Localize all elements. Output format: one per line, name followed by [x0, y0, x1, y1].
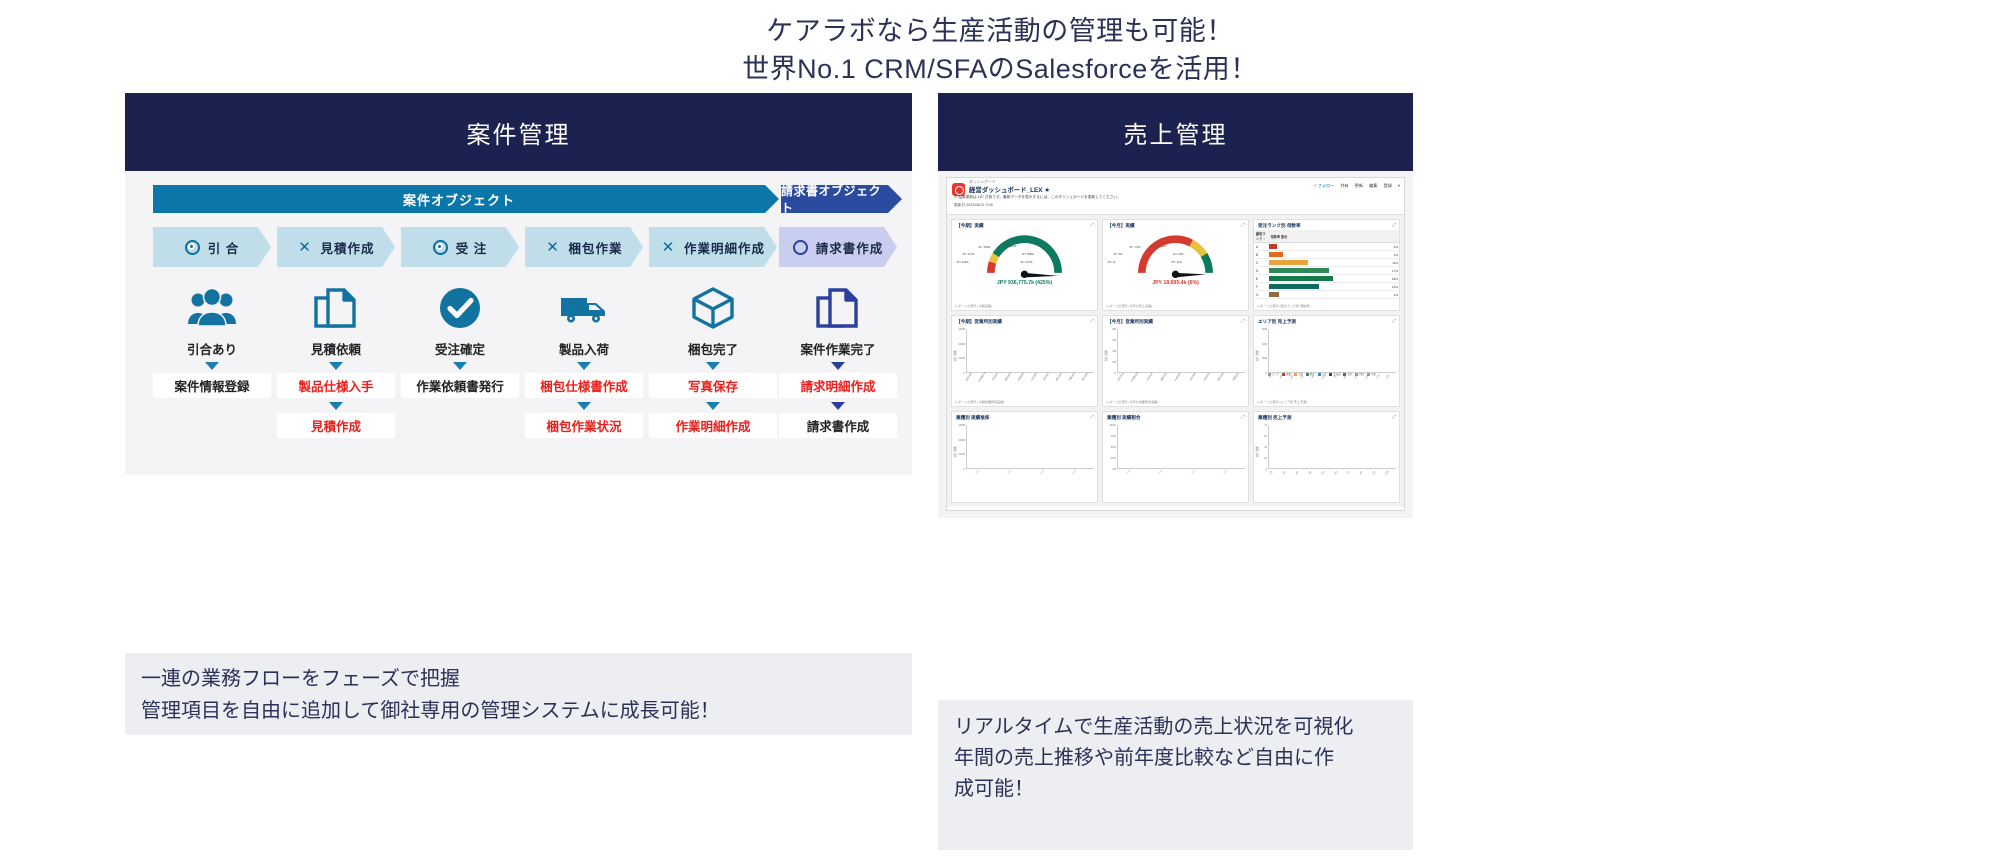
- dashboard-actions[interactable]: + フォロー共有更新編集登録▾: [1314, 183, 1400, 189]
- rank-table: 顧客ランク ↑母数率 割合 A 2% B 4% C 11% D 17% E 18…: [1254, 230, 1399, 299]
- down-arrow-icon: [706, 362, 720, 370]
- legend-item: 中部: [1294, 372, 1303, 376]
- bars: [966, 329, 1094, 373]
- bars: [1268, 425, 1396, 469]
- column-caption: 受注確定: [401, 339, 519, 358]
- x-labels: 2020202120222023: [1117, 469, 1245, 481]
- y-tick: 4k: [1264, 446, 1267, 449]
- card-title: 業種別 売上予測: [1254, 412, 1399, 422]
- x-tick: 京都支店: [1230, 370, 1247, 388]
- caption-right-line-3: 成可能！: [954, 774, 1413, 805]
- legend-item: 九州: [1318, 372, 1327, 376]
- y-tick: 200M: [959, 343, 966, 346]
- y-tick: 4M: [1112, 350, 1116, 353]
- process-column-1: 引合あり案件情報登録: [153, 279, 271, 398]
- card-footer-link[interactable]: レポートの表示 (エリア別 売上予測): [1257, 399, 1307, 404]
- down-arrow-icon: [577, 402, 591, 410]
- y-axis: 300M200M100M0: [954, 328, 965, 372]
- process-column-4: 製品入荷梱包仕様書作成梱包作業状況: [525, 279, 643, 438]
- y-tick: 6M: [1112, 339, 1116, 342]
- case-management-panel: 案件管理 案件オブジェクト 請求書オブジェクト 引 合✕見積作成受 注✕梱包作業…: [125, 93, 912, 475]
- sales-management-panel: 売上管理 ダッシュボード 経営ダッシュボード_LEX ★ ⚠ 結果更新は 187…: [938, 93, 1413, 518]
- case-management-body: 案件オブジェクト 請求書オブジェクト 引 合✕見積作成受 注✕梱包作業✕作業明細…: [125, 171, 912, 475]
- sales-management-title: 売上管理: [938, 93, 1413, 171]
- documents-icon: [277, 279, 395, 337]
- gauge-tick: JPY 627kk: [962, 253, 974, 256]
- y-tick: 6k: [1264, 435, 1267, 438]
- phase-label: 作業明細作成: [684, 238, 765, 257]
- rank-label: A: [1254, 243, 1269, 251]
- dashboard-card-4[interactable]: 【今期】営業所別実績 ⤢ 合計 金額 300M200M100M0 東京本社名古屋…: [951, 315, 1098, 407]
- legend: エリア関東中部関西九州北海道東北四国中国: [1268, 372, 1376, 376]
- step-box: 製品仕様入手: [277, 373, 395, 398]
- x-labels: 2020202120222023: [966, 469, 1094, 481]
- step-box: 案件情報登録: [153, 373, 271, 398]
- rank-pct: 4%: [1373, 251, 1399, 259]
- column-caption: 引合あり: [153, 339, 271, 358]
- process-column-5: 梱包完了写真保存作業明細作成: [649, 279, 777, 438]
- step-box: 梱包作業状況: [525, 413, 643, 438]
- rank-label: E: [1254, 275, 1269, 283]
- process-column-2: 見積依頼製品仕様入手見積作成: [277, 279, 395, 438]
- step-box: 梱包仕様書作成: [525, 373, 643, 398]
- phase-label: 引 合: [208, 238, 239, 257]
- card-title: 【今月】実績: [1103, 220, 1248, 230]
- chart-area: 合計 金額 60M40M20M0 1月2月3月4月5月6月7月8月9月10月11…: [1254, 326, 1399, 386]
- expand-icon[interactable]: ⤢: [1090, 414, 1094, 419]
- y-tick: 50%: [1111, 446, 1116, 449]
- y-tick: 25%: [1111, 457, 1116, 460]
- rank-label: D: [1254, 267, 1269, 275]
- rank-bar-cell: [1269, 251, 1373, 259]
- dashboard-card-6[interactable]: エリア別 売上予測 ⤢ 合計 金額 60M40M20M0 1月2月3月4月5月6…: [1253, 315, 1400, 407]
- card-footer-link[interactable]: レポートの表示 (受注ランク別 母数率): [1257, 303, 1310, 308]
- rank-label: B: [1254, 251, 1269, 259]
- y-tick: 0: [1115, 372, 1116, 375]
- bars: [1268, 329, 1396, 373]
- dashboard-warning: ⚠ 結果更新は 187 日前です。最新データを表示するには、このダッシュボードを…: [954, 195, 1121, 200]
- rank-pct: 18%: [1373, 275, 1399, 283]
- rank-pct: 2%: [1373, 291, 1399, 299]
- card-title: 業種別 実績割合: [1103, 412, 1248, 422]
- caption-left-line-1: 一連の業務フローをフェーズで把握: [141, 663, 912, 695]
- y-tick: 7k: [1264, 424, 1267, 427]
- y-tick: 8M: [1112, 328, 1116, 331]
- favorite-star-icon[interactable]: ★: [1044, 187, 1050, 194]
- dashboard-card-3[interactable]: 受注ランク別 母数率 ⤢ 顧客ランク ↑母数率 割合 A 2% B 4% C 1…: [1253, 219, 1400, 311]
- table-row: D 17%: [1254, 267, 1399, 275]
- y-tick: 75%: [1111, 435, 1116, 438]
- gauge-tick: JPY 255k: [1173, 253, 1184, 256]
- dashboard-action-1[interactable]: + フォロー: [1314, 183, 1334, 189]
- card-footer-link[interactable]: レポートの表示 (今月の営業所別実績): [1106, 399, 1158, 404]
- legend-item: 東北: [1343, 372, 1352, 376]
- slide-root: ケアラボなら生産活動の管理も可能！ 世界No.1 CRM/SFAのSalesfo…: [0, 0, 2000, 866]
- column-caption: 製品入荷: [525, 339, 643, 358]
- table-row: B 4%: [1254, 251, 1399, 259]
- y-tick: 20M: [1262, 357, 1267, 360]
- y-tick: 300M: [959, 424, 966, 427]
- card-title: 受注ランク別 母数率: [1254, 220, 1399, 230]
- expand-icon[interactable]: ⤢: [1241, 414, 1245, 419]
- card-title: 業種別 実績推移: [952, 412, 1097, 422]
- dashboard-card-8[interactable]: 業種別 実績割合 ⤢ 100%75%50%25%0% 2020202120222…: [1102, 411, 1249, 503]
- expand-icon[interactable]: ⤢: [1392, 414, 1396, 419]
- gauge-tick: JPY 192k: [1155, 245, 1166, 248]
- rank-bar-cell: [1269, 283, 1373, 291]
- x-tick: 10月: [1382, 467, 1399, 484]
- legend-item: 関東: [1282, 372, 1291, 376]
- y-tick: 100%: [1109, 424, 1116, 427]
- y-tick: 100M: [959, 357, 966, 360]
- card-footer-link[interactable]: レポートの表示 (今期営業所別実績): [955, 399, 1004, 404]
- gauge-tick: JPY 542kk: [1004, 245, 1016, 248]
- y-axis: 300M200M100M0: [954, 424, 965, 468]
- rank-pct: 11%: [1373, 259, 1399, 267]
- expand-icon[interactable]: ⤢: [1241, 318, 1245, 323]
- step-box: 請求明細作成: [779, 373, 897, 398]
- phase-label: 請求書作成: [816, 238, 884, 257]
- rank-label: C: [1254, 259, 1269, 267]
- phase-label: 梱包作業: [568, 238, 622, 257]
- rank-label: G: [1254, 291, 1269, 299]
- table-header: 顧客ランク ↑: [1254, 230, 1269, 243]
- down-arrow-icon: [831, 402, 845, 410]
- gauge-tick: JPY 1k: [1107, 261, 1115, 264]
- legend-item: 中国: [1367, 372, 1376, 376]
- y-tick: 300M: [959, 328, 966, 331]
- legend-item: 北海道: [1329, 372, 1340, 376]
- sales-management-caption: リアルタイムで生産活動の売上状況を可視化 年間の売上推移や前年度比較など自由に作…: [938, 700, 1413, 850]
- phase-3: 受 注: [401, 227, 519, 267]
- x-icon: ✕: [545, 240, 560, 255]
- dashboard-action-6[interactable]: ▾: [1398, 183, 1400, 189]
- check-circle-icon: [401, 279, 519, 337]
- y-axis: 60M40M20M0: [1256, 328, 1267, 372]
- gauge-tick: JPY 321k: [1171, 261, 1182, 264]
- phase-6: 請求書作成: [779, 227, 897, 267]
- table-row: A 2%: [1254, 243, 1399, 251]
- y-tick: 40M: [1262, 343, 1267, 346]
- chart-area: 合計 金額 300M200M100M0 2020202120222023: [952, 422, 1097, 482]
- dashboard-card-grid: 【今期】実績 ⤢JPY 185kkJPY 542kkJPY 627kkJPY 8…: [947, 215, 1404, 507]
- gauge-tick: JPY 185kk: [978, 246, 990, 249]
- gauge-tick: JPY 135k: [1129, 246, 1140, 249]
- rank-bar-cell: [1269, 291, 1373, 299]
- dashboard-action-4[interactable]: 編集: [1369, 183, 1377, 189]
- rank-bar-cell: [1269, 267, 1373, 275]
- gauge-tick: JPY 54k: [1113, 253, 1123, 256]
- phase-label: 受 注: [456, 238, 487, 257]
- object-bar-row: 案件オブジェクト 請求書オブジェクト: [153, 185, 888, 213]
- process-column-6: 案件作業完了請求明細作成請求書作成: [779, 279, 897, 438]
- bars: [1117, 329, 1245, 373]
- rank-label: F: [1254, 283, 1269, 291]
- y-tick: 0: [964, 372, 965, 375]
- phase-chevron-row: 引 合✕見積作成受 注✕梱包作業✕作業明細作成請求書作成: [153, 227, 893, 267]
- y-tick: 0: [1266, 468, 1267, 471]
- dashboard-action-3[interactable]: 更新: [1355, 183, 1363, 189]
- legend-item: 四国: [1355, 372, 1364, 376]
- down-arrow-icon: [706, 402, 720, 410]
- x-labels: 東京本社名古屋支店大阪支店福岡支店札幌支店仙台支店広島支店横浜支店京都支店: [1117, 373, 1245, 385]
- people-group-icon: [153, 279, 271, 337]
- card-footer-link[interactable]: レポートの表示 (今期実績): [955, 303, 992, 308]
- dashboard-header: ダッシュボード 経営ダッシュボード_LEX ★ ⚠ 結果更新は 187 日前です…: [947, 178, 1404, 215]
- gauge-tick: JPY 399kk: [956, 261, 968, 264]
- dashboard-action-2[interactable]: 共有: [1340, 183, 1348, 189]
- gauge-chart: JPY 135kJPY 192kJPY 54kJPY 255kJPY 1kJPY…: [1103, 230, 1248, 282]
- dashboard-card-9[interactable]: 業種別 売上予測 ⤢ 合計 金額 7k6k4k2k0 1月2月3月4月5月6月7…: [1253, 411, 1400, 503]
- phase-1: 引 合: [153, 227, 271, 267]
- expand-icon[interactable]: ⤢: [1241, 222, 1245, 227]
- rank-pct: 14%: [1373, 283, 1399, 291]
- dashboard-title: 経営ダッシュボード_LEX ★: [969, 185, 1050, 194]
- down-arrow-icon: [205, 362, 219, 370]
- x-labels: 東京本社名古屋支店大阪支店福岡支店札幌支店仙台支店広島支店横浜支店京都支店神戸支…: [966, 373, 1094, 385]
- gauge-tick: JPY 907kk: [1020, 261, 1032, 264]
- page-title: ケアラボなら生産活動の管理も可能！ 世界No.1 CRM/SFAのSalesfo…: [0, 12, 2000, 88]
- rank-pct: 2%: [1373, 243, 1399, 251]
- y-tick: 60M: [1262, 328, 1267, 331]
- step-box: 見積作成: [277, 413, 395, 438]
- table-row: G 2%: [1254, 291, 1399, 299]
- column-caption: 見積依頼: [277, 339, 395, 358]
- x-icon: ✕: [661, 240, 676, 255]
- expand-icon[interactable]: ⤢: [1392, 222, 1396, 227]
- phase-4: ✕梱包作業: [525, 227, 643, 267]
- step-box: 写真保存: [649, 373, 777, 398]
- x-tick: 12月: [1383, 372, 1398, 387]
- dashboard-card-5[interactable]: 【今月】営業所別実績 ⤢ 合計 金額 8M6M4M2M0 東京本社名古屋支店大阪…: [1102, 315, 1249, 407]
- expand-icon[interactable]: ⤢: [1090, 222, 1094, 227]
- table-header: 母数率 割合: [1269, 230, 1400, 243]
- down-arrow-icon: [329, 402, 343, 410]
- ring-icon: [793, 240, 808, 255]
- card-title: 【今月】営業所別実績: [1103, 316, 1248, 326]
- step-box: 請求書作成: [779, 413, 897, 438]
- gauge-tick: JPY 885kk: [1022, 253, 1034, 256]
- column-caption: 案件作業完了: [779, 339, 897, 358]
- headline-line-2: 世界No.1 CRM/SFAのSalesforceを活用！: [0, 50, 2000, 88]
- target-icon: [433, 240, 448, 255]
- down-arrow-icon: [577, 362, 591, 370]
- card-title: エリア別 売上予測: [1254, 316, 1399, 326]
- rank-pct: 17%: [1373, 267, 1399, 275]
- y-tick: 0%: [1112, 468, 1116, 471]
- phase-label: 見積作成: [320, 238, 374, 257]
- down-arrow-icon: [329, 362, 343, 370]
- table-row: C 11%: [1254, 259, 1399, 267]
- case-object-bar: 案件オブジェクト: [153, 185, 765, 213]
- expand-icon[interactable]: ⤢: [1392, 318, 1396, 323]
- caption-right-line-2: 年間の売上推移や前年度比較など自由に作: [954, 743, 1413, 774]
- y-tick: 200M: [959, 439, 966, 442]
- gauge-chart: JPY 185kkJPY 542kkJPY 627kkJPY 885kkJPY …: [952, 230, 1097, 282]
- invoice-object-bar: 請求書オブジェクト: [781, 185, 888, 213]
- process-columns: 引合あり案件情報登録 見積依頼製品仕様入手見積作成 受注確定作業依頼書発行 製品…: [153, 279, 893, 469]
- card-footer-link[interactable]: レポートの表示 (今月の売上実績): [1106, 303, 1152, 308]
- phase-2: ✕見積作成: [277, 227, 395, 267]
- caption-left-line-2: 管理項目を自由に追加して御社専用の管理システムに成長可能！: [141, 695, 912, 727]
- step-box: 作業依頼書発行: [401, 373, 519, 398]
- down-arrow-icon: [453, 362, 467, 370]
- dashboard-updated: 更新日 2023/06/21 9:45: [954, 203, 993, 208]
- y-axis: 100%75%50%25%0%: [1105, 424, 1116, 468]
- headline-line-1: ケアラボなら生産活動の管理も可能！: [0, 12, 2000, 50]
- dashboard-action-5[interactable]: 登録: [1384, 183, 1392, 189]
- x-tick: 神戸支店: [1080, 371, 1097, 388]
- y-tick: 0: [964, 468, 965, 471]
- target-icon: [185, 240, 200, 255]
- chart-area: 100%75%50%25%0% 2020202120222023: [1103, 422, 1248, 482]
- case-management-caption: 一連の業務フローをフェーズで把握 管理項目を自由に追加して御社専用の管理システム…: [125, 653, 912, 735]
- dashboard-card-1[interactable]: 【今期】実績 ⤢JPY 185kkJPY 542kkJPY 627kkJPY 8…: [951, 219, 1098, 311]
- process-column-3: 受注確定作業依頼書発行: [401, 279, 519, 398]
- y-tick: 0: [1266, 372, 1267, 375]
- down-arrow-icon: [831, 362, 845, 370]
- legend-item: エリア: [1268, 372, 1279, 376]
- y-tick: 2k: [1264, 457, 1267, 460]
- legend-item: 関西: [1306, 372, 1315, 376]
- y-tick: 2M: [1112, 361, 1116, 364]
- box-icon: [649, 279, 777, 337]
- column-caption: 梱包完了: [649, 339, 777, 358]
- salesforce-dashboard-screenshot: ダッシュボード 経営ダッシュボード_LEX ★ ⚠ 結果更新は 187 日前です…: [946, 177, 1405, 511]
- card-title: 【今期】営業所別実績: [952, 316, 1097, 326]
- y-axis: 8M6M4M2M0: [1105, 328, 1116, 372]
- caption-right-line-1: リアルタイムで生産活動の売上状況を可視化: [954, 712, 1413, 743]
- case-management-title: 案件管理: [125, 93, 912, 171]
- table-row: F 14%: [1254, 283, 1399, 291]
- chart-area: 合計 金額 8M6M4M2M0 東京本社名古屋支店大阪支店福岡支店札幌支店仙台支…: [1103, 326, 1248, 386]
- x-icon: ✕: [297, 240, 312, 255]
- chart-area: 合計 金額 300M200M100M0 東京本社名古屋支店大阪支店福岡支店札幌支…: [952, 326, 1097, 386]
- expand-icon[interactable]: ⤢: [1090, 318, 1094, 323]
- rank-bar-cell: [1269, 243, 1373, 251]
- truck-icon: [525, 279, 643, 337]
- rank-bar-cell: [1269, 259, 1373, 267]
- x-labels: 1月2月3月4月5月6月7月8月9月10月: [1268, 469, 1396, 481]
- table-row: E 18%: [1254, 275, 1399, 283]
- documents-navy-icon: [779, 279, 897, 337]
- dashboard-card-2[interactable]: 【今月】実績 ⤢JPY 135kJPY 192kJPY 54kJPY 255kJ…: [1102, 219, 1249, 311]
- y-tick: 100M: [959, 453, 966, 456]
- rank-bar-cell: [1269, 275, 1373, 283]
- phase-5: ✕作業明細作成: [649, 227, 777, 267]
- dashboard-card-7[interactable]: 業種別 実績推移 ⤢ 合計 金額 300M200M100M0 202020212…: [951, 411, 1098, 503]
- y-axis: 7k6k4k2k0: [1256, 424, 1267, 468]
- card-title: 【今期】実績: [952, 220, 1097, 230]
- step-box: 作業明細作成: [649, 413, 777, 438]
- chart-area: 合計 金額 7k6k4k2k0 1月2月3月4月5月6月7月8月9月10月: [1254, 422, 1399, 482]
